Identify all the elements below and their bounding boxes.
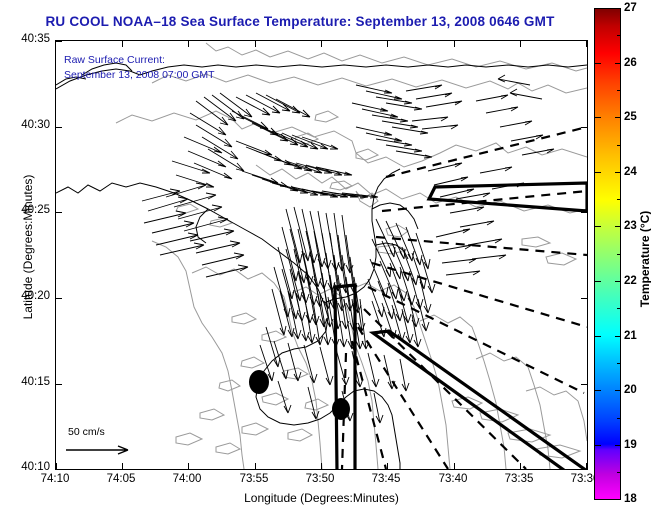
y-tick-right: [581, 384, 587, 385]
colorbar-tick: [594, 336, 601, 337]
x-tick-top: [387, 41, 388, 47]
colorbar-tick-right: [615, 499, 621, 500]
x-tick-top: [188, 41, 189, 47]
x-tick-top: [122, 41, 123, 47]
colorbar-minor-tick: [617, 90, 621, 91]
y-axis-title: Latitude (Degrees:Minutes): [21, 127, 35, 367]
colorbar-minor-tick: [617, 254, 621, 255]
colorbar-label: 22: [624, 275, 637, 287]
colorbar-tick-right: [615, 172, 621, 173]
x-tick: [255, 463, 256, 469]
x-tick: [188, 463, 189, 469]
scale-bar: 50 cm/s: [62, 426, 172, 461]
y-tick-right: [581, 298, 587, 299]
colorbar-title: Temperature (°C): [638, 159, 651, 359]
x-tick-top: [321, 41, 322, 47]
colorbar-tick: [594, 499, 601, 500]
x-tick-top: [255, 41, 256, 47]
colorbar-tick-right: [615, 8, 621, 9]
x-tick-label: 74:05: [107, 473, 136, 485]
y-tick: [56, 212, 62, 213]
colorbar-tick: [594, 172, 601, 173]
annotation-line-2: September 13, 2008 07:00 GMT: [64, 68, 215, 83]
colorbar-minor-tick: [617, 308, 621, 309]
surface-current-vector-layer: [56, 41, 587, 469]
x-tick-label: 73:35: [505, 473, 534, 485]
x-tick-label: 74:00: [173, 473, 202, 485]
colorbar-tick: [594, 390, 601, 391]
x-tick: [122, 463, 123, 469]
x-tick-label: 74:10: [41, 473, 70, 485]
y-tick: [56, 298, 62, 299]
map-plot-area[interactable]: Raw Surface Current: September 13, 2008 …: [55, 40, 588, 470]
x-tick-label: 73:50: [306, 473, 335, 485]
colorbar-minor-tick: [617, 35, 621, 36]
colorbar-tick-right: [615, 226, 621, 227]
colorbar-label: 25: [624, 111, 637, 123]
colorbar-label: 20: [624, 384, 637, 396]
x-tick-label: 73:55: [240, 473, 269, 485]
x-tick: [586, 463, 587, 469]
page-title: RU COOL NOAA–18 Sea Surface Temperature:…: [0, 14, 600, 29]
colorbar-tick-right: [615, 390, 621, 391]
x-tick-top: [454, 41, 455, 47]
colorbar-minor-tick: [617, 145, 621, 146]
x-tick: [454, 463, 455, 469]
map-canvas: Raw Surface Current: September 13, 2008 …: [56, 41, 587, 469]
colorbar-label: 19: [624, 439, 637, 451]
x-tick-top: [586, 41, 587, 47]
colorbar-tick: [594, 63, 601, 64]
colorbar-tick-right: [615, 281, 621, 282]
colorbar-tick: [594, 281, 601, 282]
x-axis-title: Longitude (Degrees:Minutes): [55, 491, 588, 505]
colorbar-tick: [594, 445, 601, 446]
y-tick: [56, 41, 62, 42]
colorbar-minor-tick: [617, 199, 621, 200]
x-tick: [520, 463, 521, 469]
colorbar-label: 27: [624, 2, 637, 14]
y-tick: [56, 127, 62, 128]
colorbar-label: 26: [624, 57, 637, 69]
annotation-line-1: Raw Surface Current:: [64, 53, 215, 68]
x-tick-label: 73:45: [372, 473, 401, 485]
x-tick-label: 73:40: [439, 473, 468, 485]
colorbar-label: 23: [624, 220, 637, 232]
colorbar-tick: [594, 226, 601, 227]
colorbar-tick-right: [615, 117, 621, 118]
current-annotation: Raw Surface Current: September 13, 2008 …: [64, 53, 215, 83]
x-tick-top: [520, 41, 521, 47]
colorbar-tick: [594, 117, 601, 118]
colorbar-label: 21: [624, 330, 637, 342]
y-tick: [56, 469, 62, 470]
right-arrow-icon: [62, 443, 172, 461]
colorbar-minor-tick: [617, 363, 621, 364]
colorbar-tick: [594, 8, 601, 9]
y-tick: [56, 384, 62, 385]
colorbar-tick-right: [615, 63, 621, 64]
colorbar-minor-tick: [617, 418, 621, 419]
scale-bar-label: 50 cm/s: [68, 426, 172, 438]
colorbar-minor-tick: [617, 472, 621, 473]
x-tick: [387, 463, 388, 469]
x-tick: [321, 463, 322, 469]
y-tick-right: [581, 127, 587, 128]
colorbar-label: 24: [624, 166, 637, 178]
colorbar-tick-right: [615, 445, 621, 446]
colorbar-label: 18: [624, 493, 637, 505]
colorbar-tick-right: [615, 336, 621, 337]
y-tick-right: [581, 212, 587, 213]
